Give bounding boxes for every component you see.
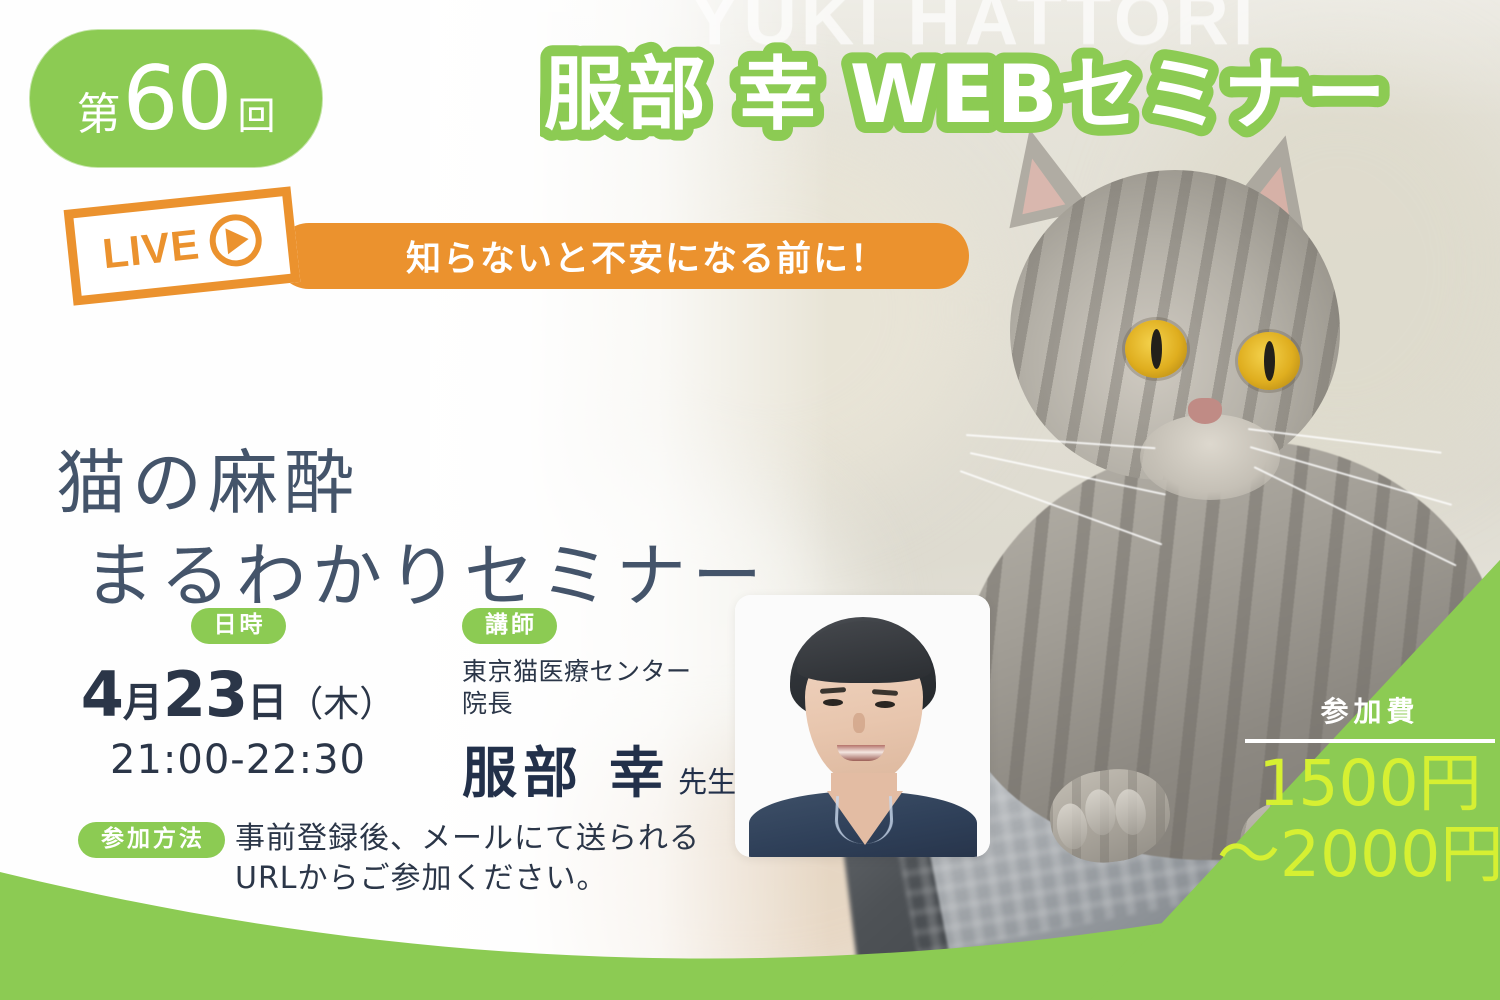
time-value: 21:00-22:30: [78, 737, 398, 783]
lecturer-honorific: 先生: [678, 765, 736, 799]
header-title-text: 服部 幸 WEBセミナー: [544, 48, 1388, 141]
portrait-eye-right: [875, 701, 895, 708]
lecturer-name: 服部 幸: [462, 741, 670, 805]
join-method-block: 参加方法 事前登録後、メールにて送られる URLからご参加ください。: [78, 822, 758, 898]
price-label: 参加費: [1245, 690, 1495, 730]
lecturer-label: 講師: [462, 608, 557, 644]
lecturer-organization: 東京猫医療センター 院長: [462, 656, 762, 720]
cat-eye-left: [1125, 320, 1187, 378]
header-title: 服部 幸 WEBセミナー: [540, 38, 1460, 148]
edition-number: 60: [123, 55, 231, 143]
seminar-poster: YUKI HATTORI 服部 幸 WEBセミナー 第 60 回 知らないと不安…: [0, 0, 1500, 1000]
cat-muzzle: [1140, 414, 1280, 500]
play-triangle: [226, 226, 251, 254]
date-weekday: （木）: [287, 684, 395, 725]
price-divider: [1245, 739, 1495, 743]
cat-head: [1010, 170, 1340, 480]
edition-suffix: 回: [237, 85, 275, 140]
join-method-label: 参加方法: [78, 822, 225, 858]
edition-prefix: 第: [77, 78, 120, 142]
play-icon: [207, 212, 264, 269]
lecturer-name-row: 服部 幸先生: [462, 728, 762, 808]
portrait-nose: [853, 713, 865, 733]
lecturer-block: 講師 東京猫医療センター 院長 服部 幸先生: [462, 608, 762, 808]
date-value: 4月23日（木）: [78, 658, 398, 731]
cat-whisker: [966, 434, 1156, 449]
cat-pupil-right: [1264, 341, 1275, 381]
live-label: LIVE: [100, 220, 202, 278]
cat-nose: [1188, 398, 1222, 424]
lecturer-portrait-image: [735, 595, 990, 857]
catchphrase-pill: 知らないと不安になる前に！: [276, 223, 969, 289]
join-method-text: 事前登録後、メールにて送られる URLからご参加ください。: [235, 819, 700, 898]
seminar-title-line1: 猫の麻酔: [56, 442, 360, 524]
date-day-unit: 日: [247, 680, 287, 726]
cat-pupil-left: [1151, 329, 1162, 369]
date-month-unit: 月: [123, 680, 163, 726]
price-block: 参加費 1500円 〜2000円: [1245, 690, 1495, 890]
date-month: 4: [81, 658, 123, 731]
lecturer-portrait: [735, 595, 990, 857]
cat-whisker: [970, 452, 1166, 496]
edition-badge: 第 60 回: [30, 30, 322, 167]
edition-badge-text: 第 60 回: [77, 55, 276, 143]
cat-toe: [1113, 787, 1149, 837]
price-amount-high: 〜2000円: [1217, 820, 1495, 891]
cat-toe: [1082, 787, 1118, 837]
live-badge: LIVE: [64, 186, 301, 305]
cat-eye-right: [1238, 332, 1300, 390]
join-method-row: 参加方法 事前登録後、メールにて送られる URLからご参加ください。: [78, 822, 758, 898]
live-banner: 知らないと不安になる前に！ LIVE: [68, 196, 948, 312]
datetime-label: 日時: [191, 608, 286, 644]
catchphrase-text: 知らないと不安になる前に！: [406, 231, 887, 282]
datetime-block: 日時 4月23日（木） 21:00-22:30: [78, 608, 398, 783]
price-amount-low: 1500円: [1245, 749, 1495, 820]
portrait-eye-left: [823, 699, 843, 706]
date-day: 23: [163, 658, 247, 731]
